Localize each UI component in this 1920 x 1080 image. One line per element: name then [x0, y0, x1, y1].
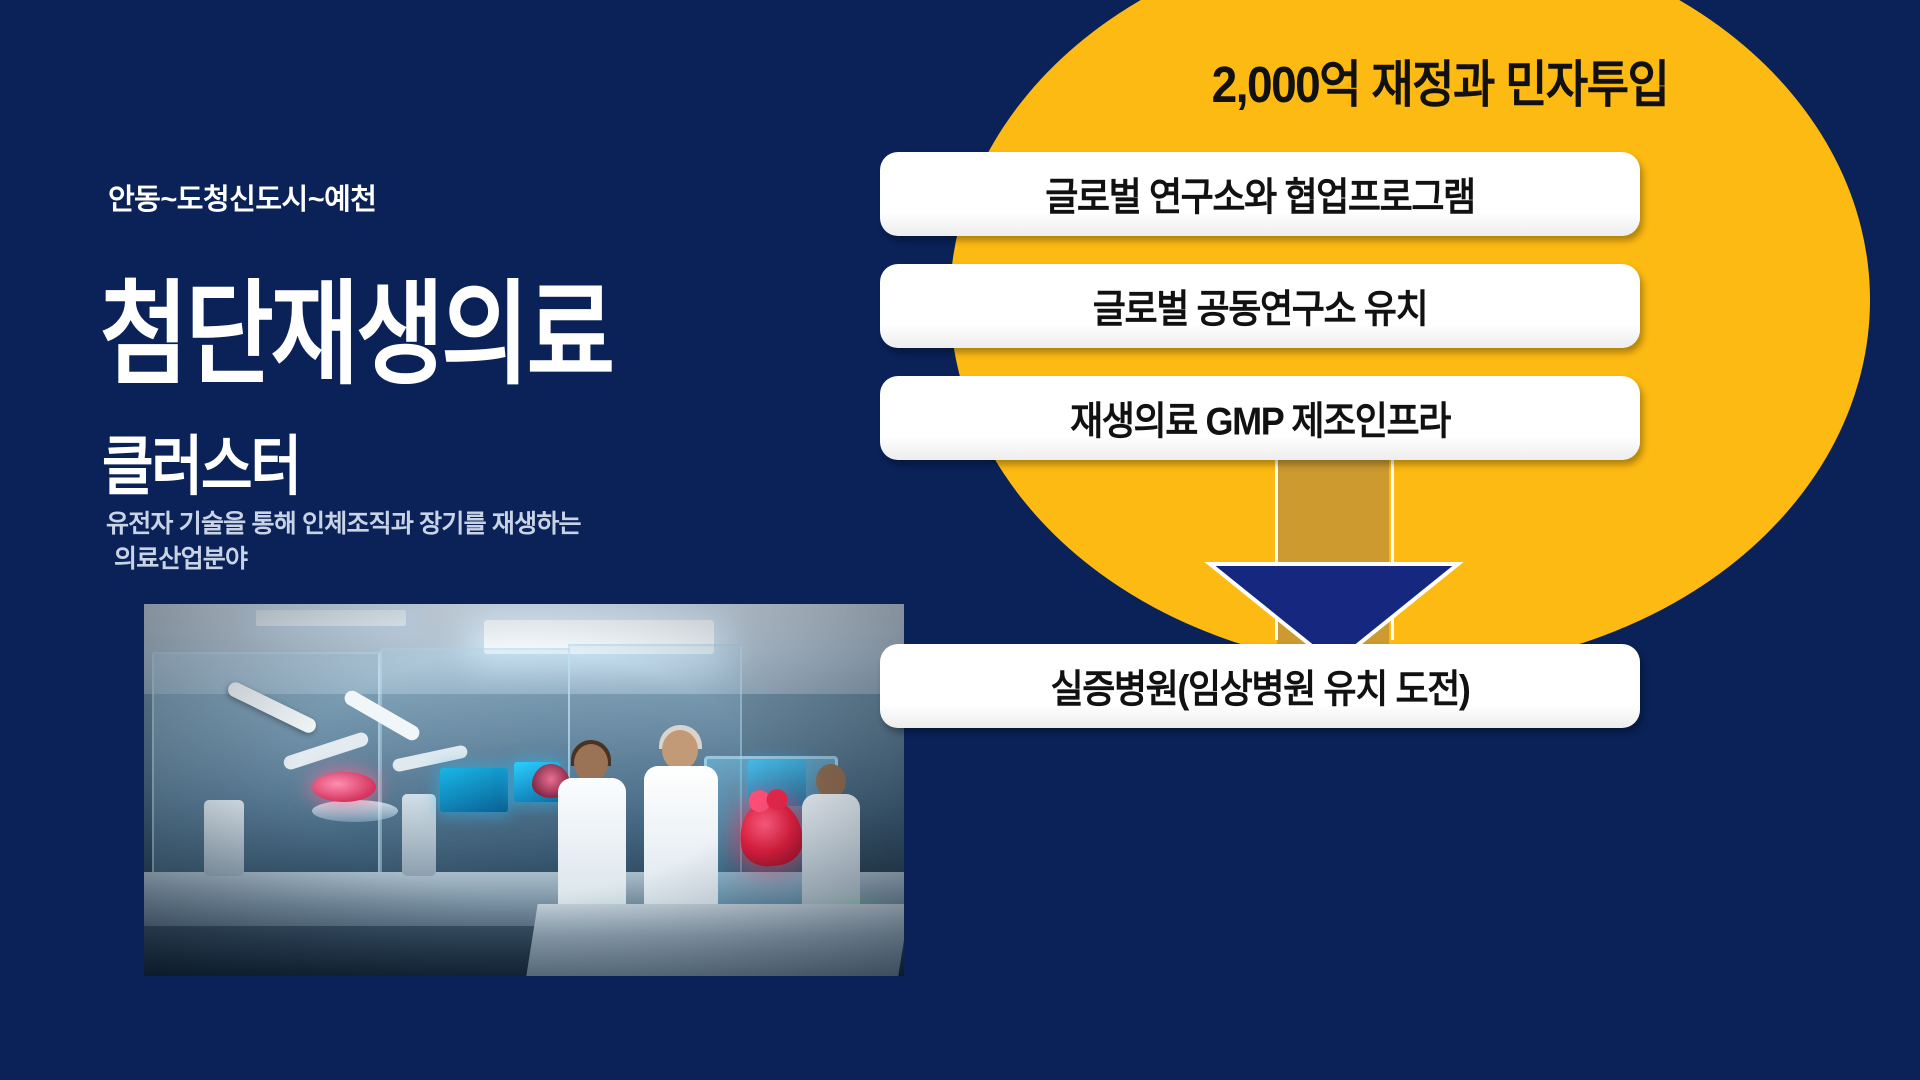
funnel-item-1[interactable]: 글로벌 연구소와 협업프로그램 [880, 152, 1640, 236]
funnel-item-2[interactable]: 글로벌 공동연구소 유치 [880, 264, 1640, 348]
funnel-item-3[interactable]: 재생의료 GMP 제조인프라 [880, 376, 1640, 460]
funnel-item-3-label: 재생의료 GMP 제조인프라 [1070, 390, 1450, 447]
regenerative-medicine-lab-photo [144, 604, 904, 976]
funnel-title: 2,000억 재정과 민자투입 [960, 45, 1920, 118]
funnel-outcome-label: 실증병원(임상병원 유치 도전) [1050, 658, 1469, 715]
lead-description: 유전자 기술을 통해 인체조직과 장기를 재생하는 의료산업분야 [106, 507, 806, 576]
photo-vignette [144, 604, 904, 976]
funnel-outcome-box[interactable]: 실증병원(임상병원 유치 도전) [880, 644, 1640, 728]
lead-line-2: 의료산업분야 [106, 542, 806, 577]
left-content-panel: 안동~도청신도시~예천 첨단재생의료 클러스터 유전자 기술을 통해 인체조직과… [0, 0, 980, 1080]
page-subtitle: 클러스터 [102, 434, 300, 499]
slide-canvas: 안동~도청신도시~예천 첨단재생의료 클러스터 유전자 기술을 통해 인체조직과… [0, 0, 1920, 1080]
funnel-item-2-label: 글로벌 공동연구소 유치 [1093, 278, 1427, 335]
eyebrow-route-label: 안동~도청신도시~예천 [108, 176, 377, 218]
page-title: 첨단재생의료 [100, 279, 612, 392]
funnel-diagram-panel: 2,000억 재정과 민자투입 글로벌 연구소와 협업프로그램 글로벌 공동연구… [960, 0, 1920, 1080]
lead-line-1: 유전자 기술을 통해 인체조직과 장기를 재생하는 [106, 510, 581, 538]
funnel-item-1-label: 글로벌 연구소와 협업프로그램 [1045, 166, 1475, 223]
